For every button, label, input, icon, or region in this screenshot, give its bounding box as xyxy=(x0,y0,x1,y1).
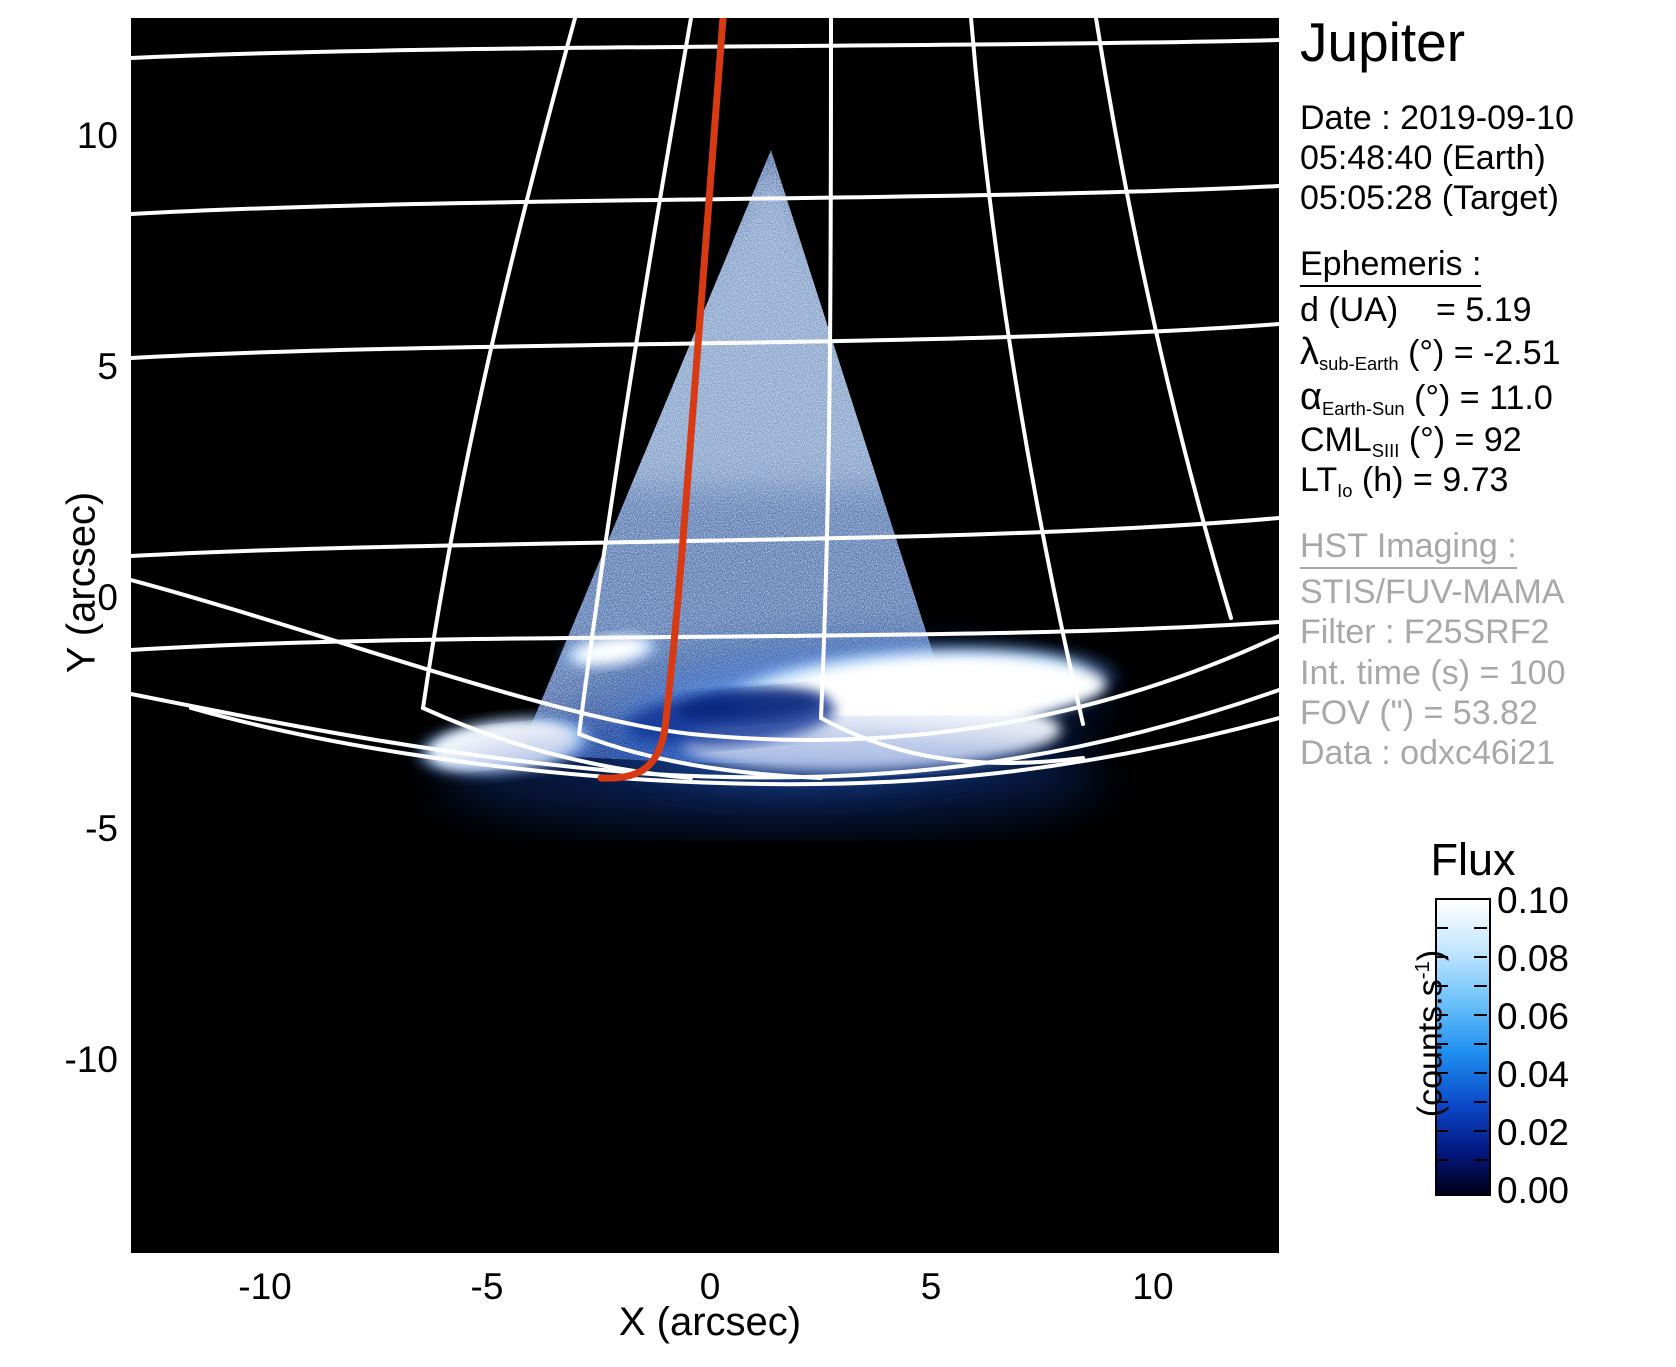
x-tick-label: 5 xyxy=(851,1268,1011,1305)
alpha-subscript: Earth-Sun xyxy=(1322,398,1405,419)
alpha-unit: (°) xyxy=(1414,379,1450,417)
observation-date: Date : 2019-09-10 xyxy=(1300,98,1676,138)
lambda-value: = -2.51 xyxy=(1454,334,1561,372)
cml-symbol: CML xyxy=(1300,421,1372,459)
observation-time-target: 05:05:28 (Target) xyxy=(1300,178,1676,218)
target-title: Jupiter xyxy=(1300,14,1676,72)
x-axis-label: X (arcsec) xyxy=(560,1300,860,1345)
colorbar-tick-label: 0.10 xyxy=(1497,882,1569,919)
y-tick-label: -10 xyxy=(0,1041,118,1078)
colorbar-units-text: (counts.s xyxy=(1412,979,1450,1117)
lambda-subscript: sub-Earth xyxy=(1319,353,1399,374)
colorbar-tick-label: 0.08 xyxy=(1497,940,1569,977)
observation-time-earth: 05:48:40 (Earth) xyxy=(1300,138,1676,178)
cml-subscript: SIII xyxy=(1372,440,1400,461)
lambda-unit: (°) xyxy=(1408,334,1444,372)
instrument-detector: STIS/FUV-MAMA xyxy=(1300,572,1676,612)
colorbar-units-label: (counts.s-1) xyxy=(1412,884,1451,1184)
y-axis-label: Y (arcsec) xyxy=(60,423,105,743)
lambda-symbol: λ xyxy=(1300,331,1319,373)
cml-value: = 92 xyxy=(1455,421,1522,459)
aurora-image-svg xyxy=(131,18,1279,1253)
aurora-image-plot xyxy=(131,18,1279,1253)
colorbar-units-exponent: -1 xyxy=(1412,961,1434,979)
ephemeris-distance: d (UA) = 5.19 xyxy=(1300,290,1676,330)
lt-subscript: Io xyxy=(1337,480,1352,501)
ephemeris-cml: CMLSIII (°) = 92 xyxy=(1300,420,1676,460)
ephemeris-heading: Ephemeris : xyxy=(1300,244,1481,287)
alpha-value: = 11.0 xyxy=(1460,379,1553,417)
y-tick-label: -5 xyxy=(0,810,118,847)
flux-colorbar: Flux 0.10 0.08 0.06 0.04 0.02 0.00 (coun… xyxy=(1333,834,1676,1254)
colorbar-units-close: ) xyxy=(1412,950,1450,961)
alpha-symbol: α xyxy=(1300,376,1322,418)
y-tick-label: 5 xyxy=(0,348,118,385)
ephemeris-local-time-io: LTIo (h) = 9.73 xyxy=(1300,460,1676,500)
lt-unit: (h) xyxy=(1362,461,1404,499)
x-tick-label: -10 xyxy=(185,1268,345,1305)
colorbar-tick-label: 0.04 xyxy=(1497,1056,1569,1093)
ephemeris-sub-earth-latitude: λsub-Earth (°) = -2.51 xyxy=(1300,330,1676,375)
y-tick-label: 10 xyxy=(0,117,118,154)
ephemeris-distance-label: d (UA) xyxy=(1300,291,1398,329)
instrument-heading: HST Imaging : xyxy=(1300,526,1517,569)
ephemeris-phase-angle: αEarth-Sun (°) = 11.0 xyxy=(1300,375,1676,420)
lt-value: = 9.73 xyxy=(1413,461,1508,499)
colorbar-tick-label: 0.00 xyxy=(1497,1172,1569,1209)
colorbar-tick-label: 0.06 xyxy=(1497,998,1569,1035)
colorbar-tick-label: 0.02 xyxy=(1497,1114,1569,1151)
instrument-dataset-id: Data : odxc46i21 xyxy=(1300,733,1676,773)
colorbar-title: Flux xyxy=(1373,834,1573,886)
x-tick-label: 10 xyxy=(1073,1268,1233,1305)
lt-symbol: LT xyxy=(1300,461,1337,499)
instrument-filter: Filter : F25SRF2 xyxy=(1300,612,1676,652)
ephemeris-distance-value: = 5.19 xyxy=(1436,291,1531,329)
cml-unit: (°) xyxy=(1409,421,1445,459)
x-tick-label: -5 xyxy=(407,1268,567,1305)
instrument-fov: FOV (") = 53.82 xyxy=(1300,693,1676,733)
instrument-integration-time: Int. time (s) = 100 xyxy=(1300,653,1676,693)
observation-info-panel: Jupiter Date : 2019-09-10 05:48:40 (Eart… xyxy=(1300,14,1676,773)
